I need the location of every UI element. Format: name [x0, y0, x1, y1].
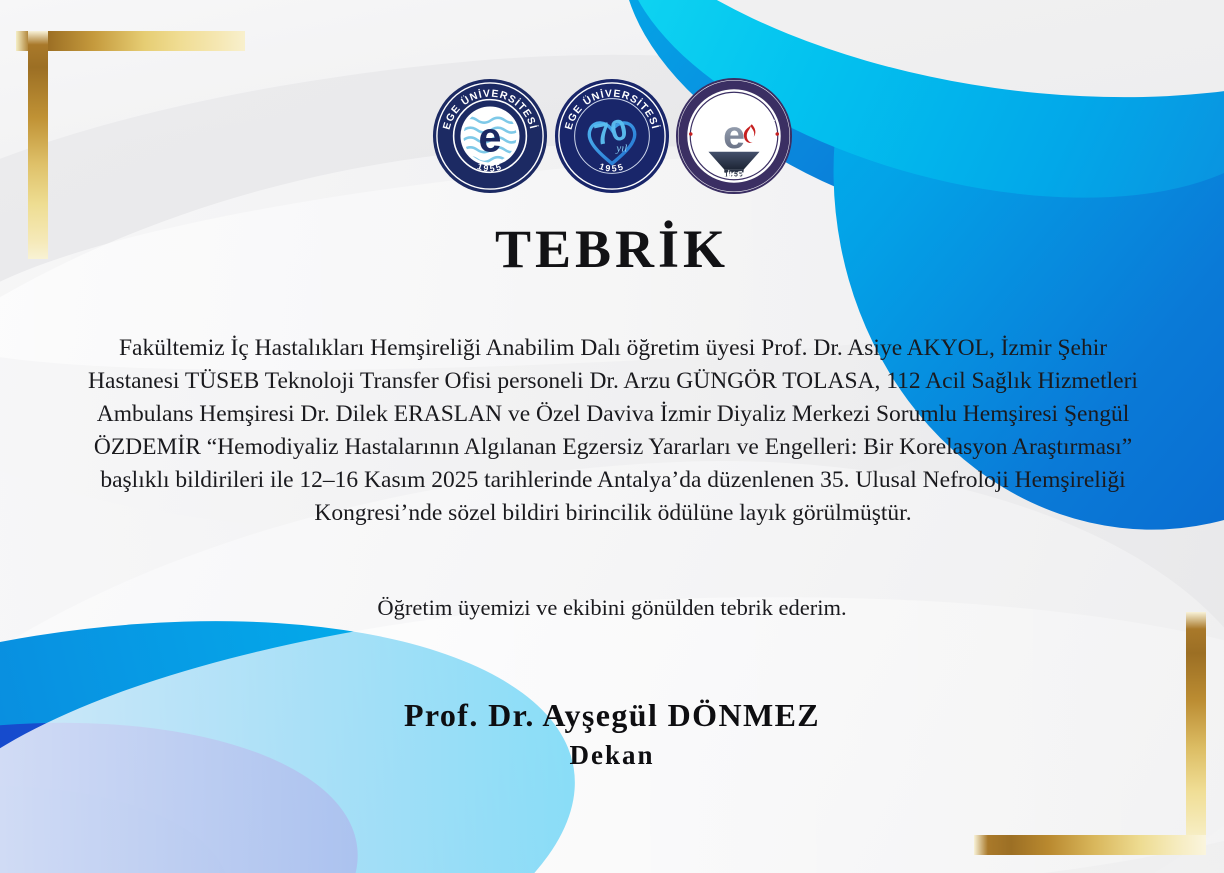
svg-text:yıl: yıl	[615, 143, 627, 155]
page-title: TEBRİK	[0, 218, 1224, 280]
closing-line: Öğretim üyemizi ve ekibini gönülden tebr…	[0, 592, 1224, 624]
signature-role: Dekan	[0, 736, 1224, 774]
certificate-content: e EGE ÜNİVERSİTESİ 1955	[0, 0, 1224, 873]
signature-block: Prof. Dr. Ayşegül DÖNMEZ Dekan	[0, 694, 1224, 774]
certificate-page: e EGE ÜNİVERSİTESİ 1955	[0, 0, 1224, 873]
logo-row: e EGE ÜNİVERSİTESİ 1955	[0, 76, 1224, 196]
body-paragraph: Fakültemiz İç Hastalıkları Hemşireliği A…	[88, 332, 1138, 530]
signature-name: Prof. Dr. Ayşegül DÖNMEZ	[0, 694, 1224, 736]
svg-text:e: e	[723, 113, 745, 157]
svg-text:e: e	[479, 115, 502, 161]
ege-universitesi-70-yil-logo: 70 yıl EGE ÜNİVERSİTESİ 1955	[553, 76, 671, 196]
ege-universitesi-logo: e EGE ÜNİVERSİTESİ 1955	[431, 76, 549, 196]
hemsirelik-fakultesi-logo: e 1955 EGE ÜNİVERSİTESİ HEMŞİRELİK FAKÜL…	[675, 76, 793, 196]
